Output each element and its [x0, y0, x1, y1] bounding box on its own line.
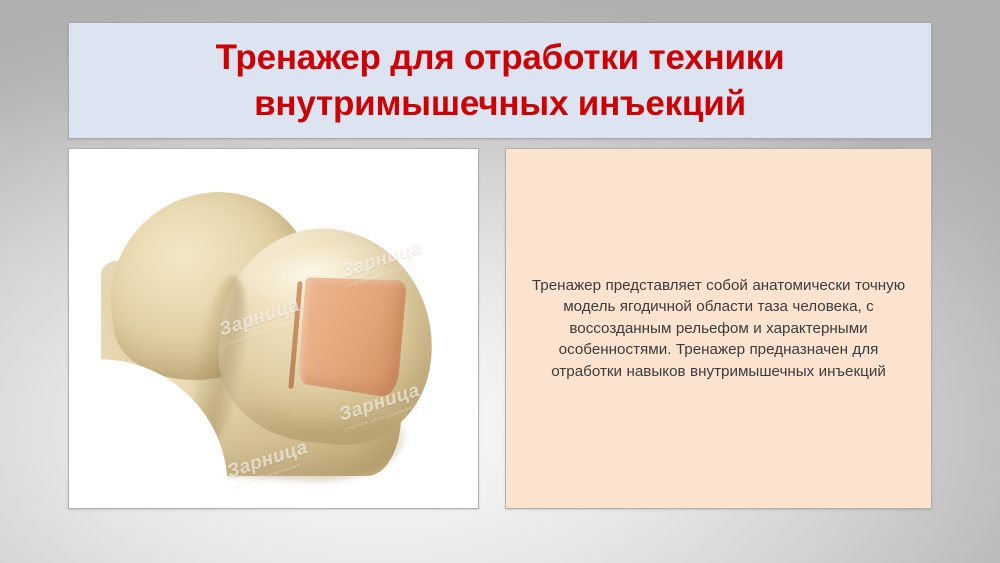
slide-canvas: Тренажер для отработки техники внутримыш…	[0, 0, 1000, 563]
title-line-1: Тренажер для отработки техники	[83, 35, 917, 81]
description-text: Тренажер представляет собой анатомически…	[506, 275, 931, 383]
title-line-2: внутримышечных инъекций	[83, 81, 917, 127]
description-panel: Тренажер представляет собой анатомически…	[505, 148, 932, 509]
product-photo: Зарница учебное оборудование Зарница уче…	[69, 149, 478, 508]
page-title: Тренажер для отработки техники внутримыш…	[69, 35, 931, 126]
title-box: Тренажер для отработки техники внутримыш…	[68, 22, 932, 139]
image-panel: Зарница учебное оборудование Зарница уче…	[68, 148, 479, 509]
injection-trainer-model	[69, 149, 478, 508]
injection-pad	[298, 277, 407, 398]
